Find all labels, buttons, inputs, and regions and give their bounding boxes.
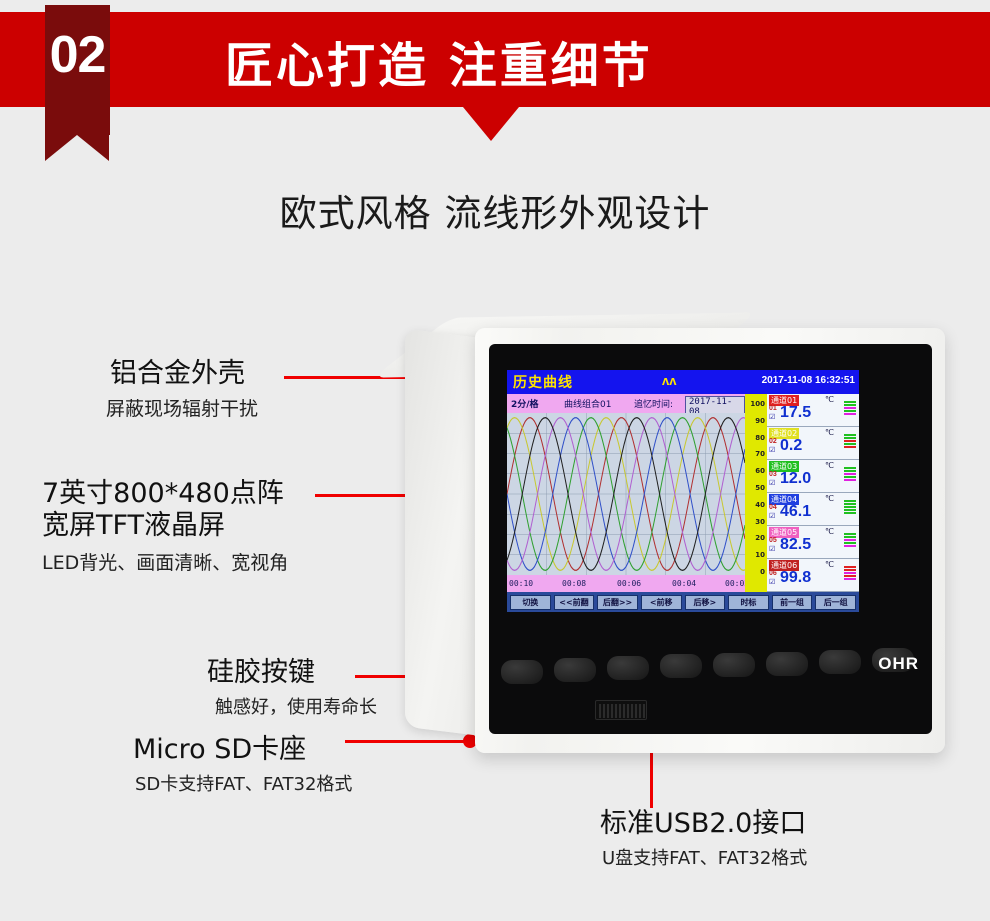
brand-logo: OHR — [878, 654, 919, 674]
lcd-softkey[interactable]: 前一组 — [772, 595, 813, 610]
channel-unit: ℃ — [825, 560, 834, 569]
channel-index: 03 — [769, 471, 777, 478]
lcd-plot-column: 2分/格 曲线组合01 追忆时间: 2017-11-08 16:32:30 — [507, 394, 745, 592]
section-ribbon: 02 — [45, 5, 110, 135]
callout-keys-title: 硅胶按键 — [207, 657, 377, 689]
callout-micro-sd: Micro SD卡座 SD卡支持FAT、FAT32格式 — [133, 734, 352, 796]
trend-chart-svg — [507, 413, 745, 575]
device-key-6[interactable] — [766, 652, 808, 676]
value-axis-tick: 80 — [755, 434, 765, 442]
channel-checkbox-icon[interactable]: ☑ — [769, 446, 775, 454]
channel-value: 99.8 — [780, 569, 811, 587]
callout-lcd-sub: LED背光、画面清晰、宽视角 — [42, 548, 288, 575]
info-group: 曲线组合01 — [564, 397, 611, 410]
channel-row[interactable]: 通道02℃02☑0.2 — [767, 427, 859, 460]
time-tick-0: 00:10 — [509, 579, 533, 588]
page-title: 匠心打造 注重细节 — [225, 26, 653, 96]
device-key-5[interactable] — [713, 653, 755, 677]
time-axis: 00:10 00:08 00:06 00:04 00:02 — [507, 575, 745, 592]
lcd-softkey[interactable]: <前移 — [641, 595, 682, 610]
callout-silicone-keys: 硅胶按键 触感好，使用寿命长 — [207, 657, 377, 719]
channel-index: 01 — [769, 405, 777, 412]
silicone-key-row — [501, 652, 921, 686]
device-key-7[interactable] — [819, 650, 861, 674]
channel-value: 0.2 — [780, 437, 802, 455]
callout-aluminum-housing: 铝合金外壳 屏蔽现场辐射干扰 — [110, 358, 258, 421]
value-axis: 1009080706050403020100 — [745, 394, 767, 592]
time-tick-1: 00:08 — [562, 579, 586, 588]
channel-readout-panel: 通道01℃01☑17.5通道02℃02☑0.2通道03℃03☑12.0通道04℃… — [767, 394, 859, 592]
channel-row[interactable]: 通道01℃01☑17.5 — [767, 394, 859, 427]
lcd-softkey[interactable]: 时标 — [728, 595, 769, 610]
value-axis-tick: 60 — [755, 467, 765, 475]
channel-index: 06 — [769, 570, 777, 577]
channel-value: 82.5 — [780, 536, 811, 554]
lcd-softkey[interactable]: 切换 — [510, 595, 551, 610]
callout-lcd-title-line1: 7英寸800*480点阵 — [42, 478, 288, 510]
device-key-2[interactable] — [554, 658, 596, 682]
value-axis-tick: 70 — [755, 450, 765, 458]
channel-value: 46.1 — [780, 503, 811, 521]
channel-row[interactable]: 通道04℃04☑46.1 — [767, 493, 859, 526]
info-recall-label: 追忆时间: — [634, 397, 673, 410]
channel-value: 12.0 — [780, 470, 811, 488]
value-axis-tick: 20 — [755, 534, 765, 542]
lcd-screen[interactable]: 历史曲线 ᴧᴧ 2017-11-08 16:32:51 2分/格 曲线组合01 … — [507, 370, 859, 612]
info-scale: 2分/格 — [511, 397, 539, 410]
channel-value: 17.5 — [780, 404, 811, 422]
channel-index: 04 — [769, 504, 777, 511]
channel-checkbox-icon[interactable]: ☑ — [769, 413, 775, 421]
channel-checkbox-icon[interactable]: ☑ — [769, 512, 775, 520]
channel-bar-indicator — [844, 401, 856, 415]
header-notch — [463, 107, 519, 141]
callout-usb-port: 标准USB2.0接口 U盘支持FAT、FAT32格式 — [600, 808, 807, 870]
callout-usb-sub: U盘支持FAT、FAT32格式 — [602, 844, 807, 870]
channel-row[interactable]: 通道05℃05☑82.5 — [767, 526, 859, 559]
section-number: 02 — [45, 25, 110, 85]
device-key-1[interactable] — [501, 660, 543, 684]
lcd-softkey[interactable]: 后一组 — [815, 595, 856, 610]
channel-bar-indicator — [844, 566, 856, 580]
callout-aluminum-title: 铝合金外壳 — [110, 358, 258, 390]
channel-row[interactable]: 通道06℃06☑99.8 — [767, 559, 859, 592]
value-axis-tick: 50 — [755, 484, 765, 492]
channel-index: 05 — [769, 537, 777, 544]
value-axis-tick: 90 — [755, 417, 765, 425]
lcd-title-bar: 历史曲线 ᴧᴧ 2017-11-08 16:32:51 — [507, 370, 859, 394]
value-axis-tick: 30 — [755, 518, 765, 526]
device-key-4[interactable] — [660, 654, 702, 678]
usb-port-icon[interactable] — [595, 700, 647, 720]
value-axis-tick: 0 — [760, 568, 765, 576]
trend-chart[interactable] — [507, 413, 745, 575]
channel-checkbox-icon[interactable]: ☑ — [769, 545, 775, 553]
channel-unit: ℃ — [825, 428, 834, 437]
lcd-softkey[interactable]: 后翻>> — [597, 595, 638, 610]
channel-row[interactable]: 通道03℃03☑12.0 — [767, 460, 859, 493]
usb-port-inner — [599, 704, 645, 718]
channel-checkbox-icon[interactable]: ☑ — [769, 578, 775, 586]
channel-bar-indicator — [844, 434, 856, 448]
callout-sd-sub: SD卡支持FAT、FAT32格式 — [135, 770, 352, 796]
channel-unit: ℃ — [825, 527, 834, 536]
time-tick-2: 00:06 — [617, 579, 641, 588]
lcd-body: 2分/格 曲线组合01 追忆时间: 2017-11-08 16:32:30 — [507, 394, 859, 592]
callout-sd-title: Micro SD卡座 — [133, 734, 352, 766]
channel-index: 02 — [769, 438, 777, 445]
channel-bar-indicator — [844, 500, 856, 514]
time-tick-3: 00:04 — [672, 579, 696, 588]
lcd-softkey-bar: 切换<<前翻后翻>><前移后移>时标前一组后一组 — [507, 592, 859, 612]
lcd-screen-title: 历史曲线 — [513, 372, 573, 392]
value-axis-tick: 10 — [755, 551, 765, 559]
callout-keys-sub: 触感好，使用寿命长 — [215, 693, 377, 719]
paperless-recorder-device: 历史曲线 ᴧᴧ 2017-11-08 16:32:51 2分/格 曲线组合01 … — [405, 318, 945, 758]
callout-lcd-title-line2: 宽屏TFT液晶屏 — [42, 510, 288, 542]
device-key-3[interactable] — [607, 656, 649, 680]
channel-unit: ℃ — [825, 395, 834, 404]
callout-lcd-screen: 7英寸800*480点阵 宽屏TFT液晶屏 LED背光、画面清晰、宽视角 — [42, 478, 288, 575]
channel-bar-indicator — [844, 533, 856, 547]
lcd-softkey[interactable]: 后移> — [685, 595, 726, 610]
channel-unit: ℃ — [825, 461, 834, 470]
channel-checkbox-icon[interactable]: ☑ — [769, 479, 775, 487]
channel-bar-indicator — [844, 467, 856, 481]
callout-aluminum-sub: 屏蔽现场辐射干扰 — [106, 394, 258, 421]
value-axis-tick: 40 — [755, 501, 765, 509]
subtitle: 欧式风格 流线形外观设计 — [0, 183, 990, 237]
value-axis-tick: 100 — [750, 400, 765, 408]
callout-usb-title: 标准USB2.0接口 — [600, 808, 807, 840]
lcd-info-bar: 2分/格 曲线组合01 追忆时间: 2017-11-08 16:32:30 — [507, 394, 745, 413]
waveform-icon: ᴧᴧ — [662, 373, 676, 388]
channel-unit: ℃ — [825, 494, 834, 503]
lcd-softkey[interactable]: <<前翻 — [554, 595, 595, 610]
lcd-clock: 2017-11-08 16:32:51 — [762, 375, 855, 386]
